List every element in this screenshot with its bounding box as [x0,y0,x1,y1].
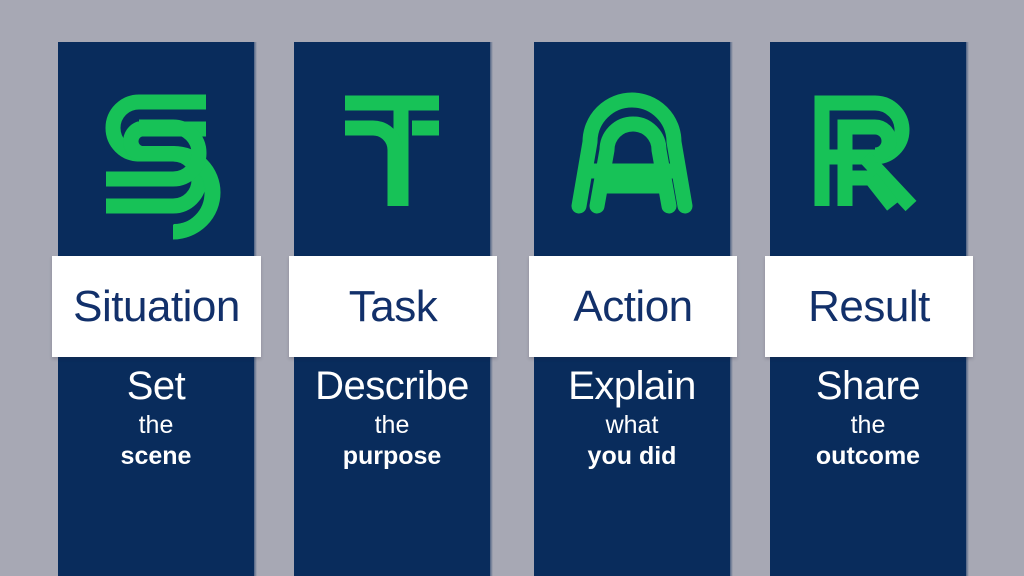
letter-r-monogram-icon [770,42,966,255]
caption-line-secondary: the [770,413,966,438]
keyword-band-result: Result [765,256,973,357]
keyword-label-action: Action [573,285,692,329]
caption-task: Describe the purpose [294,366,490,469]
keyword-label-task: Task [349,285,437,329]
keyword-label-situation: Situation [73,285,240,329]
caption-line-primary: Explain [534,366,730,406]
star-method-slide: Situation Task Action Result Set the sce… [0,0,1024,576]
caption-line-emphasis: you did [534,444,730,469]
letter-s-monogram-icon [58,42,254,255]
keyword-band-action: Action [529,256,737,357]
keyword-label-result: Result [808,285,930,329]
letter-a-monogram-icon [534,42,730,255]
caption-line-primary: Set [58,366,254,406]
caption-line-secondary: the [294,413,490,438]
caption-line-emphasis: outcome [770,444,966,469]
caption-line-primary: Describe [294,366,490,406]
caption-action: Explain what you did [534,366,730,469]
keyword-band-task: Task [289,256,497,357]
caption-line-emphasis: scene [58,444,254,469]
caption-line-secondary: what [534,413,730,438]
caption-line-emphasis: purpose [294,444,490,469]
caption-result: Share the outcome [770,366,966,469]
caption-line-primary: Share [770,366,966,406]
caption-line-secondary: the [58,413,254,438]
keyword-band-situation: Situation [52,256,261,357]
letter-t-monogram-icon [294,42,490,255]
caption-situation: Set the scene [58,366,254,469]
